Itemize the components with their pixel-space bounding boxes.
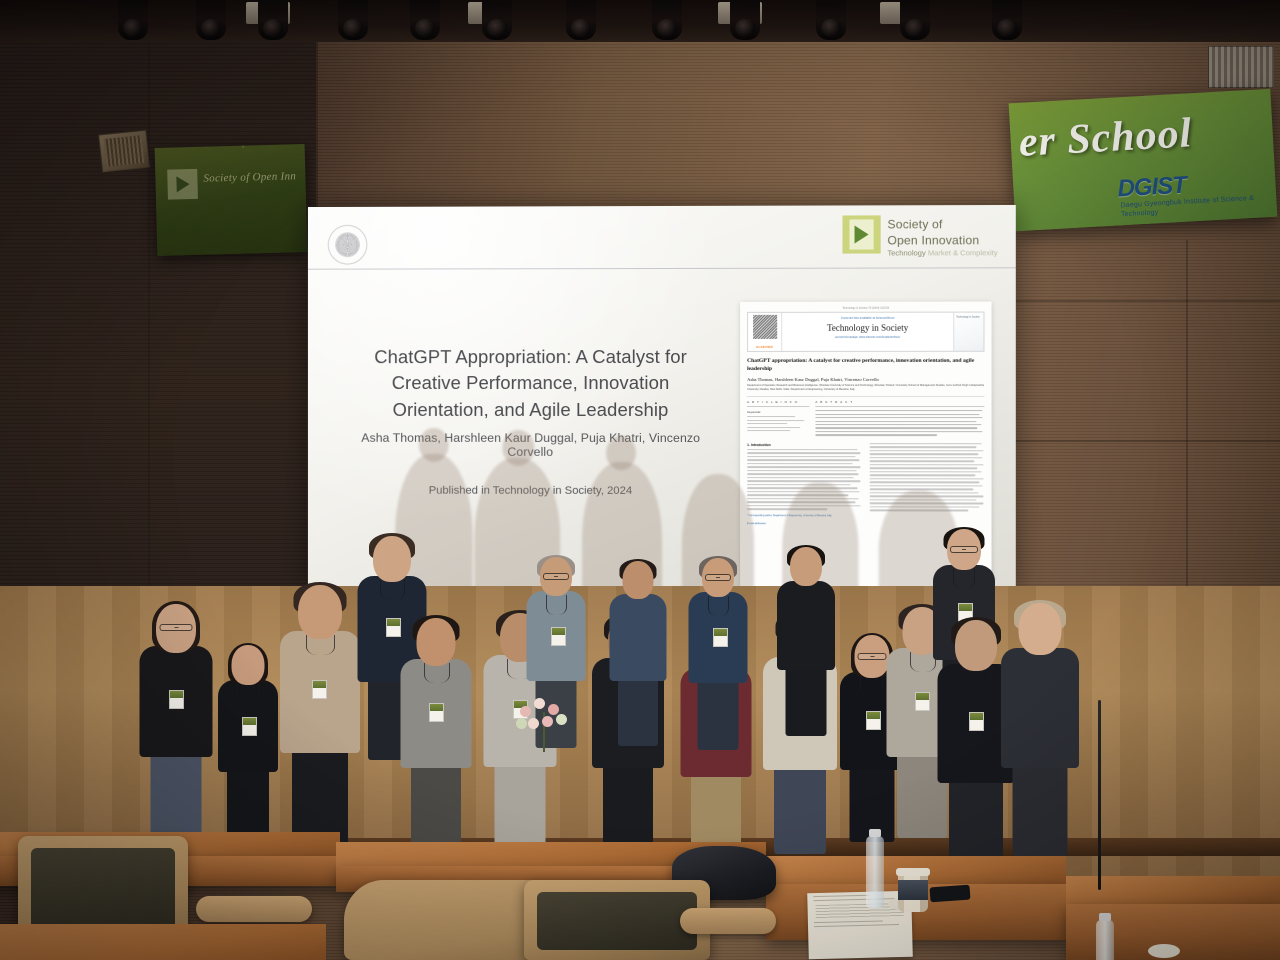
group-photo-person	[218, 640, 278, 840]
person-legs	[151, 753, 202, 840]
conference-badge	[169, 690, 184, 709]
chair-armrest[interactable]	[196, 896, 312, 922]
smartphone-on-desk[interactable]	[930, 885, 971, 903]
group-photo-person	[280, 578, 360, 844]
lanyard	[237, 684, 259, 704]
person-head	[417, 618, 456, 666]
lanyard	[910, 652, 936, 672]
elsevier-tree-icon	[753, 315, 777, 339]
eyeglasses-icon	[543, 573, 569, 580]
section-heading: 1. Introduction	[747, 443, 862, 447]
person-legs	[1013, 764, 1068, 856]
play-triangle-icon	[167, 169, 198, 200]
person-head	[623, 561, 654, 599]
conference-badge	[969, 712, 984, 731]
paper-coffee-cup[interactable]	[898, 872, 928, 912]
paper-title: ChatGPT appropriation: A catalyst for cr…	[747, 357, 984, 374]
lanyard	[963, 668, 991, 688]
person-torso	[777, 581, 835, 670]
person-head	[955, 620, 997, 671]
conference-photo-scene: Society of Open Inn er School DGIST Daeg…	[0, 0, 1280, 960]
cup-lid[interactable]	[1148, 944, 1180, 958]
abstract-lines	[815, 410, 984, 436]
conference-badge	[915, 692, 930, 711]
person-head	[232, 645, 265, 685]
banner-summer-school: er School DGIST Daegu Gyeongbuk Institut…	[1009, 89, 1278, 231]
ceiling-band	[0, 0, 1280, 42]
stage-spotlight	[118, 0, 148, 40]
banner-left-text: Society of Open Inn	[203, 168, 303, 187]
slide-header-divider	[308, 267, 1016, 269]
eyeglasses-icon	[858, 653, 887, 660]
lanyard	[163, 650, 189, 670]
conference-badge	[312, 680, 327, 699]
stage-spotlight	[566, 0, 596, 40]
stage-spotlight	[730, 0, 760, 40]
group-photo-person	[610, 556, 667, 746]
flower-bouquet	[512, 690, 576, 760]
group-photo-person	[1001, 596, 1079, 856]
group-photo-person	[777, 542, 835, 736]
person-legs	[292, 749, 348, 844]
stage-spotlight	[652, 0, 682, 40]
eyeglasses-icon	[705, 574, 731, 581]
person-head	[790, 547, 822, 586]
lanyard	[424, 663, 450, 683]
abstract-label: A B S T R A C T	[815, 400, 984, 404]
floor-cable	[1098, 700, 1101, 890]
speaker-grill	[104, 135, 145, 167]
group-photo-person	[401, 612, 472, 848]
play-triangle-icon	[842, 215, 880, 253]
conference-badge	[429, 703, 444, 722]
lanyard	[546, 595, 567, 615]
article-info-column: A R T I C L E I N F O Keywords:	[747, 400, 809, 438]
banner-title: er School	[1018, 109, 1194, 167]
plastic-water-bottle[interactable]	[866, 836, 884, 908]
journal-title: Technology in Society	[782, 323, 953, 333]
paper-header-note: Technology in Society 79 (2024) 102728	[747, 307, 984, 310]
keywords-lines	[747, 416, 809, 431]
person-legs	[618, 677, 658, 746]
person-head	[1019, 603, 1062, 655]
person-legs	[603, 764, 653, 850]
person-head	[373, 536, 411, 582]
journal-homepage-line: journal homepage: www.elsevier.com/locat…	[782, 335, 953, 339]
stage-spotlight	[338, 0, 368, 40]
group-photo-person	[689, 552, 748, 750]
banner-society-left: Society of Open Inn	[155, 144, 308, 256]
person-torso	[1001, 648, 1079, 768]
person-legs	[411, 764, 461, 848]
lanyard	[306, 635, 335, 655]
wall-speaker-icon	[98, 130, 150, 173]
person-legs	[698, 679, 739, 750]
soitmc-logo: Society of Open Innovation Technology Ma…	[842, 215, 997, 258]
eyeglasses-icon	[160, 624, 193, 631]
elsevier-wordmark: ELSEVIER	[756, 345, 772, 349]
stage-spotlight	[992, 0, 1022, 40]
wall-seam	[1014, 440, 1280, 442]
logo-line-3-faded: Market & Complexity	[928, 249, 998, 258]
logo-line-1: Society of	[887, 216, 997, 233]
logo-line-2: Open Innovation	[887, 232, 997, 249]
sciencedirect-line: Contents lists available at ScienceDirec…	[782, 316, 953, 320]
stage-spotlight	[482, 0, 512, 40]
paper-authors: Asha Thomas, Harshleen Kaur Duggal, Puja…	[747, 377, 984, 382]
stage-spotlight	[196, 0, 226, 40]
stage-spotlight	[410, 0, 440, 40]
paper-affiliations: Department of Operation Research and Bus…	[747, 384, 984, 392]
chair-armrest[interactable]	[680, 908, 776, 934]
person-torso	[610, 594, 667, 681]
journal-cover-thumb: Technology in Society	[953, 313, 983, 351]
journal-masthead: ELSEVIER Contents lists available at Sci…	[747, 312, 984, 352]
conference-badge	[551, 627, 566, 646]
logo-line-3-strong: Technology	[887, 249, 925, 258]
person-legs	[774, 766, 826, 854]
abstract-column: A B S T R A C T	[815, 400, 984, 438]
slide-title: ChatGPT Appropriation: A Catalyst for Cr…	[344, 344, 718, 423]
article-info-label: A R T I C L E I N F O	[747, 400, 809, 404]
wall-speaker-icon	[1208, 46, 1274, 88]
person-legs	[786, 666, 827, 736]
person-head	[298, 585, 342, 639]
group-photo-person	[140, 598, 213, 840]
plastic-water-bottle[interactable]	[1096, 920, 1114, 960]
lanyard	[380, 580, 405, 600]
university-seal-icon	[328, 225, 368, 265]
stage-spotlight	[900, 0, 930, 40]
lanyard	[953, 569, 975, 589]
auditorium-desk	[0, 924, 326, 960]
conference-badge	[713, 628, 728, 647]
conference-badge	[386, 618, 401, 637]
lanyard	[860, 676, 883, 696]
conference-badge	[866, 711, 881, 730]
eyeglasses-icon	[950, 546, 978, 553]
conference-badge	[242, 717, 257, 736]
keywords-label: Keywords:	[747, 410, 809, 414]
lanyard	[708, 596, 729, 616]
stage-spotlight	[258, 0, 288, 40]
person-legs	[495, 763, 546, 850]
person-legs	[227, 768, 269, 840]
stage-spotlight	[816, 0, 846, 40]
elsevier-logo: ELSEVIER	[748, 313, 782, 351]
